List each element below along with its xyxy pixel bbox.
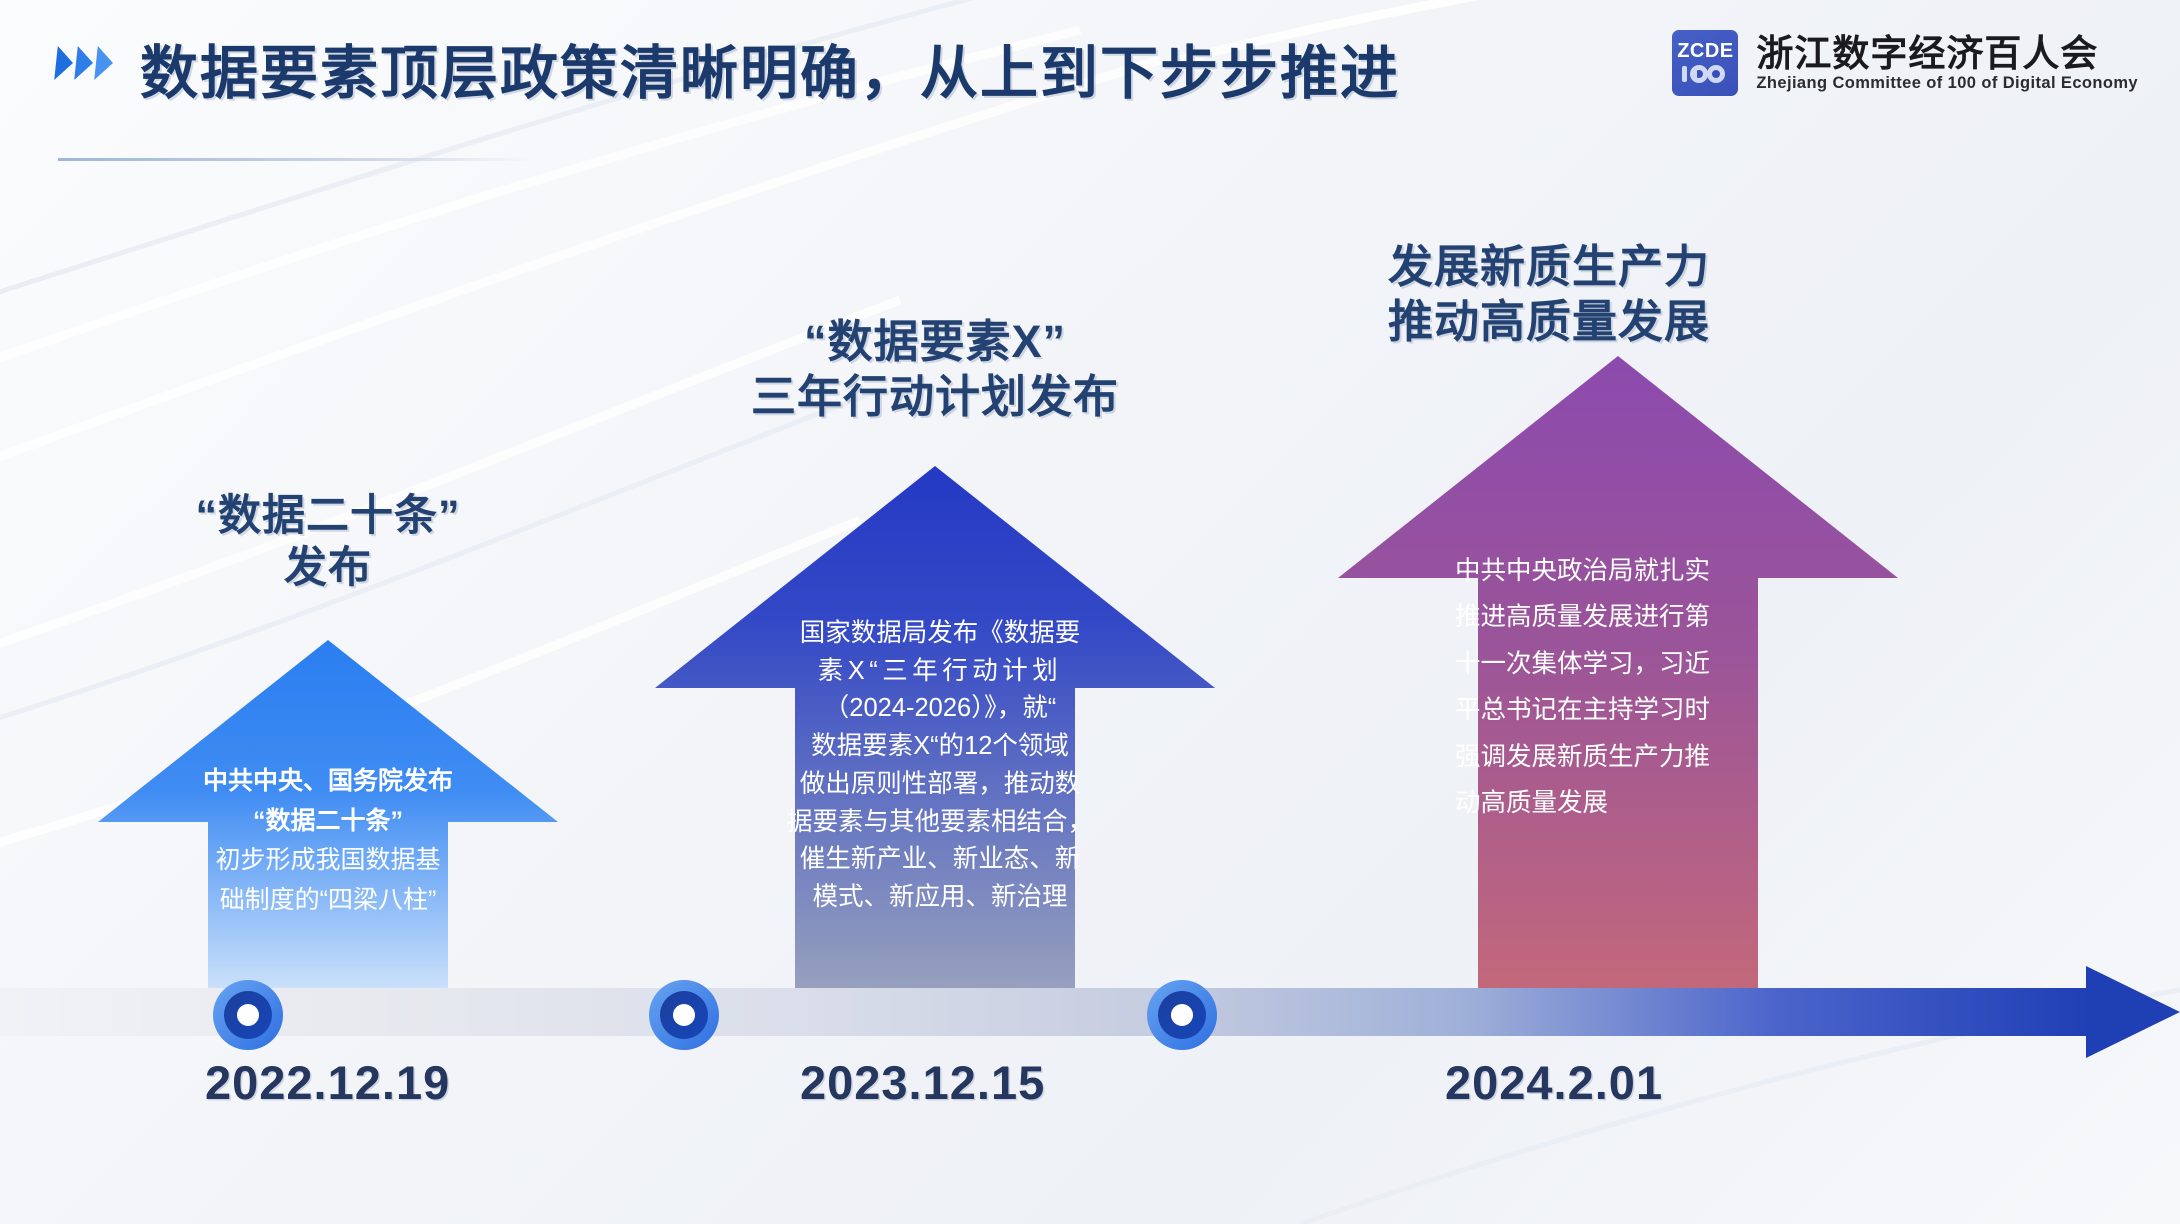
milestone-3-heading: 发展新质生产力 推动高质量发展 bbox=[1388, 240, 1848, 350]
milestone-3-body-line-6: 动高质量发展 bbox=[1455, 780, 1785, 826]
milestone-2-body-line-8: 模式、新应用、新治理 bbox=[775, 879, 1105, 917]
milestone-2-body-line-1: 国家数据局发布《数据要 bbox=[775, 615, 1105, 653]
milestone-2-heading-line-1: “数据要素X” bbox=[804, 316, 1066, 367]
milestone-2-heading-line-2: 三年行动计划发布 bbox=[751, 371, 1119, 422]
milestone-3-body-line-2: 推进高质量发展进行第 bbox=[1455, 594, 1785, 640]
milestone-1-body-line-1: 中共中央、国务院发布 bbox=[150, 762, 506, 802]
milestone-2-heading: “数据要素X” 三年行动计划发布 bbox=[615, 315, 1255, 425]
milestone-1-body: 中共中央、国务院发布 “数据二十条” 初步形成我国数据基 础制度的“四梁八柱” bbox=[150, 762, 506, 920]
timeline-node-ring-1 bbox=[224, 991, 272, 1039]
milestone-2-body-line-4: 数据要素X“的12个领域 bbox=[775, 728, 1105, 766]
milestone-1-body-line-2: “数据二十条” bbox=[150, 802, 506, 842]
milestone-1-date: 2022.12.19 bbox=[205, 1055, 450, 1110]
timeline-node-ring-2 bbox=[660, 991, 708, 1039]
organization-logo: ZCDE 浙江数字经济百人会 Zhejiang Committee of 100… bbox=[1672, 30, 2138, 96]
zcde-logo-mark-icon: ZCDE bbox=[1672, 30, 1738, 96]
milestone-2-body-line-3: （2024-2026）》，就“ bbox=[775, 690, 1105, 728]
milestone-2-body-line-2: 素X“三年行动计划 bbox=[775, 653, 1105, 691]
milestone-1-heading-line-1: “数据二十条” bbox=[196, 492, 461, 540]
logo-100-glyph-icon bbox=[1681, 63, 1729, 85]
milestone-1-body-line-4: 础制度的“四梁八柱” bbox=[150, 881, 506, 921]
logo-name-cn: 浙江数字经济百人会 bbox=[1756, 35, 2138, 72]
milestone-3-date: 2024.2.01 bbox=[1445, 1055, 1663, 1110]
timeline-node-core-2 bbox=[673, 1004, 695, 1026]
milestone-3-body-line-5: 强调发展新质生产力推 bbox=[1455, 734, 1785, 780]
slide-header: 数据要素顶层政策清晰明确，从上到下步步推进 ZCDE 浙江数字经济百 bbox=[0, 0, 2180, 170]
milestone-3-body-line-1: 中共中央政治局就扎实 bbox=[1455, 548, 1785, 594]
timeline-node-core-3 bbox=[1171, 1004, 1193, 1026]
milestone-2-body: 国家数据局发布《数据要 素X“三年行动计划 （2024-2026）》，就“ 数据… bbox=[775, 615, 1105, 917]
milestone-2-body-line-5: 做出原则性部署，推动数 bbox=[775, 766, 1105, 804]
milestone-3-heading-line-1: 发展新质生产力 bbox=[1388, 241, 1710, 292]
timeline-node-ring-3 bbox=[1158, 991, 1206, 1039]
timeline-node-icon-2[interactable] bbox=[649, 980, 719, 1050]
logo-mark-text: ZCDE bbox=[1677, 41, 1733, 61]
timeline-node-core-1 bbox=[237, 1004, 259, 1026]
milestone-2-body-line-6: 据要素与其他要素相结合， bbox=[775, 804, 1105, 842]
milestone-1-body-line-3: 初步形成我国数据基 bbox=[150, 841, 506, 881]
milestone-1-heading-line-2: 发布 bbox=[284, 544, 372, 592]
timeline-node-icon-1[interactable] bbox=[213, 980, 283, 1050]
triple-chevron-right-icon bbox=[56, 46, 113, 80]
milestone-1-heading: “数据二十条” 发布 bbox=[98, 490, 558, 595]
milestone-2-date: 2023.12.15 bbox=[800, 1055, 1045, 1110]
title-underline-divider bbox=[58, 158, 538, 161]
timeline-node-icon-3[interactable] bbox=[1147, 980, 1217, 1050]
milestone-2-body-line-7: 催生新产业、新业态、新 bbox=[775, 841, 1105, 879]
page-title: 数据要素顶层政策清晰明确，从上到下步步推进 bbox=[140, 26, 1400, 110]
logo-name-en: Zhejiang Committee of 100 of Digital Eco… bbox=[1756, 75, 2138, 92]
milestone-3-heading-line-2: 推动高质量发展 bbox=[1388, 296, 1710, 347]
milestone-3-body-line-3: 十一次集体学习，习近 bbox=[1455, 641, 1785, 687]
slide-canvas: 数据要素顶层政策清晰明确，从上到下步步推进 ZCDE 浙江数字经济百 bbox=[0, 0, 2180, 1224]
milestone-3-body: 中共中央政治局就扎实 推进高质量发展进行第 十一次集体学习，习近 平总书记在主持… bbox=[1455, 548, 1785, 826]
milestone-3-body-line-4: 平总书记在主持学习时 bbox=[1455, 687, 1785, 733]
